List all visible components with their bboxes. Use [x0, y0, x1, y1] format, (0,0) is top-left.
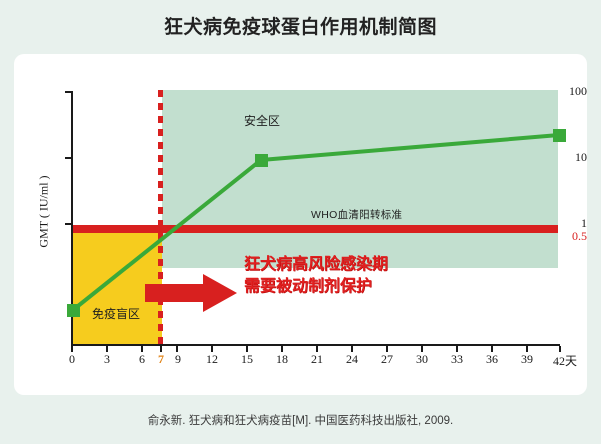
x-tick-label-15: 15 — [227, 352, 267, 367]
citation-text: 俞永新. 狂犬病和狂犬病疫苗[M]. 中国医药科技出版社, 2009. — [0, 412, 601, 428]
y-tick-1 — [65, 223, 71, 225]
who-threshold-band — [72, 225, 558, 233]
y-axis-title: GMT ( IU/ml ) — [37, 157, 52, 267]
x-tick-label-21: 21 — [297, 352, 337, 367]
y-axis-line — [71, 91, 73, 345]
x-tick-label-3: 3 — [87, 352, 127, 367]
risk-callout-line-1: 狂犬病高风险感染期 — [244, 254, 388, 276]
x-tick-label-33: 33 — [437, 352, 477, 367]
y-tick-label-10: 10 — [543, 150, 587, 165]
x-tick-label-42: 42天 — [540, 352, 590, 369]
x-tick-label-30: 30 — [402, 352, 442, 367]
y-tick-100 — [65, 91, 71, 93]
y-tick-label-0point5: 0.5 — [543, 229, 587, 244]
page-title: 狂犬病免疫球蛋白作用机制简图 — [0, 12, 601, 39]
x-tick-label-24: 24 — [332, 352, 372, 367]
x-tick-label-12: 12 — [192, 352, 232, 367]
risk-period-callout: 狂犬病高风险感染期 需要被动制剂保护 — [244, 254, 388, 297]
x-tick-label-0: 0 — [52, 352, 92, 367]
who-threshold-label: WHO血清阳转标准 — [311, 207, 402, 222]
safe-zone-region — [162, 90, 558, 268]
x-tick-label-36: 36 — [472, 352, 512, 367]
plot-area: 100 10 1 0.5 GMT ( IU/ml ) 0 3 6 7 9 12 … — [14, 54, 587, 395]
y-tick-label-100: 100 — [543, 84, 587, 99]
right-arrow-icon — [145, 272, 237, 314]
safe-zone-label: 安全区 — [244, 112, 280, 129]
risk-callout-line-2: 需要被动制剂保护 — [244, 276, 388, 298]
x-tick-label-27: 27 — [367, 352, 407, 367]
blind-zone-label: 免疫盲区 — [92, 305, 140, 322]
y-tick-10 — [65, 157, 71, 159]
chart-card: 100 10 1 0.5 GMT ( IU/ml ) 0 3 6 7 9 12 … — [14, 54, 587, 395]
x-tick-label-18: 18 — [262, 352, 302, 367]
